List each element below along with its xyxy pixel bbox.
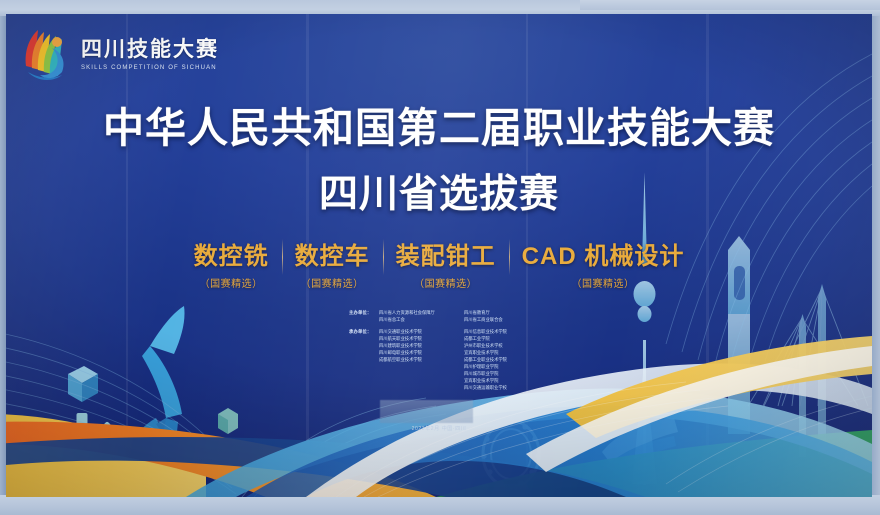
rocket-icon	[124, 306, 185, 490]
organizer-name: 宜宾职业技术学院	[464, 378, 576, 385]
category-name: 装配钳工	[396, 236, 496, 271]
organizer-name: 四川护理职业学院	[464, 364, 576, 371]
ribbon-cyan	[186, 388, 872, 497]
category-item: 数控铣 （国赛精选）	[181, 236, 282, 290]
ribbon-blue-dark	[6, 437, 646, 497]
ceiling-strip-right	[580, 0, 880, 10]
host-label: 主办单位：	[349, 310, 379, 324]
ribbon-gold-right	[566, 336, 872, 438]
undertaker-row: 承办单位： 四川交通职业技术学院 四川航天职业技术学院 四川建筑职业技术学院 四…	[349, 329, 579, 392]
cube-icon	[68, 366, 98, 402]
category-name: 数控铣	[194, 236, 269, 271]
organizer-name: 成都工业职业技术学院	[464, 357, 576, 364]
logo-name-cn: 四川技能大赛	[81, 39, 219, 60]
undertaker-label: 承办单位：	[349, 329, 379, 392]
floor-strip	[0, 495, 880, 515]
undertaker-left-names: 四川交通职业技术学院 四川航天职业技术学院 四川建筑职业技术学院 四川邮电职业技…	[379, 329, 464, 392]
organizer-name: 四川交通运输职业学校	[464, 385, 576, 392]
date-location-line: 2023年2月 中国·四川	[6, 425, 872, 432]
category-name: CAD 机械设计	[522, 236, 685, 271]
category-item: 装配钳工 （国赛精选）	[383, 236, 509, 290]
organizer-name: 四川省总工会	[379, 317, 464, 324]
logo-name-en: SKILLS COMPETITION OF SICHUAN	[81, 65, 219, 71]
organizer-name: 四川省人力资源和社会保障厅	[379, 310, 464, 317]
ribbon-blue	[246, 406, 872, 497]
organizer-name: 成都航空职业技术学院	[379, 357, 464, 364]
sichuan-skills-swoosh-logo-icon	[20, 26, 74, 84]
organizer-name: 四川邮电职业技术学院	[379, 350, 464, 357]
organizer-name: 宜宾职业技术学院	[464, 350, 576, 357]
title-line-1: 中华人民共和国第二届职业技能大赛	[6, 94, 872, 154]
organizer-block: 主办单位： 四川省人力资源和社会保障厅 四川省总工会 四川省教育厅 四川省工商业…	[349, 310, 579, 396]
host-row: 主办单位： 四川省人力资源和社会保障厅 四川省总工会 四川省教育厅 四川省工商业…	[349, 310, 579, 324]
organizer-name: 四川省工商业联合会	[464, 317, 576, 324]
organizer-name: 泸州市职业技术学校	[464, 343, 576, 350]
backdrop-board: 四川技能大赛 SKILLS COMPETITION OF SICHUAN 中华人…	[6, 14, 872, 497]
organizer-name: 四川信息职业技术学院	[464, 329, 576, 336]
organizer-name: 成都工业学院	[464, 336, 576, 343]
obscured-text-region	[380, 400, 473, 423]
organizer-name: 四川建筑职业技术学院	[379, 343, 464, 350]
event-logo: 四川技能大赛 SKILLS COMPETITION OF SICHUAN	[20, 26, 219, 84]
ribbon-green	[436, 430, 872, 497]
left-icon-group	[41, 306, 185, 495]
ribbon-orange	[6, 422, 436, 497]
category-list: 数控铣 （国赛精选） 数控车 （国赛精选） 装配钳工 （国赛精选） CAD 机械…	[6, 236, 872, 290]
category-note: （国赛精选）	[194, 275, 269, 290]
category-note: （国赛精选）	[522, 275, 685, 290]
category-note: （国赛精选）	[295, 275, 370, 290]
wall-edge-right	[871, 0, 880, 515]
organizer-name: 四川城市职业学院	[464, 371, 576, 378]
category-name: 数控车	[295, 236, 370, 271]
title-line-2: 四川省选拔赛	[6, 163, 872, 219]
category-note: （国赛精选）	[396, 275, 496, 290]
category-item: 数控车 （国赛精选）	[282, 236, 383, 290]
organizer-name: 四川航天职业技术学院	[379, 336, 464, 343]
undertaker-right-names: 四川信息职业技术学院 成都工业学院 泸州市职业技术学校 宜宾职业技术学院 成都工…	[464, 329, 576, 392]
title-block: 中华人民共和国第二届职业技能大赛 四川省选拔赛	[6, 94, 872, 219]
host-right-names: 四川省教育厅 四川省工商业联合会	[464, 310, 576, 324]
category-item: CAD 机械设计 （国赛精选）	[509, 236, 698, 290]
organizer-name: 四川省教育厅	[464, 310, 576, 317]
backdrop-photo: 四川技能大赛 SKILLS COMPETITION OF SICHUAN 中华人…	[0, 0, 880, 515]
host-left-names: 四川省人力资源和社会保障厅 四川省总工会	[379, 310, 464, 324]
organizer-name: 四川交通职业技术学院	[379, 329, 464, 336]
